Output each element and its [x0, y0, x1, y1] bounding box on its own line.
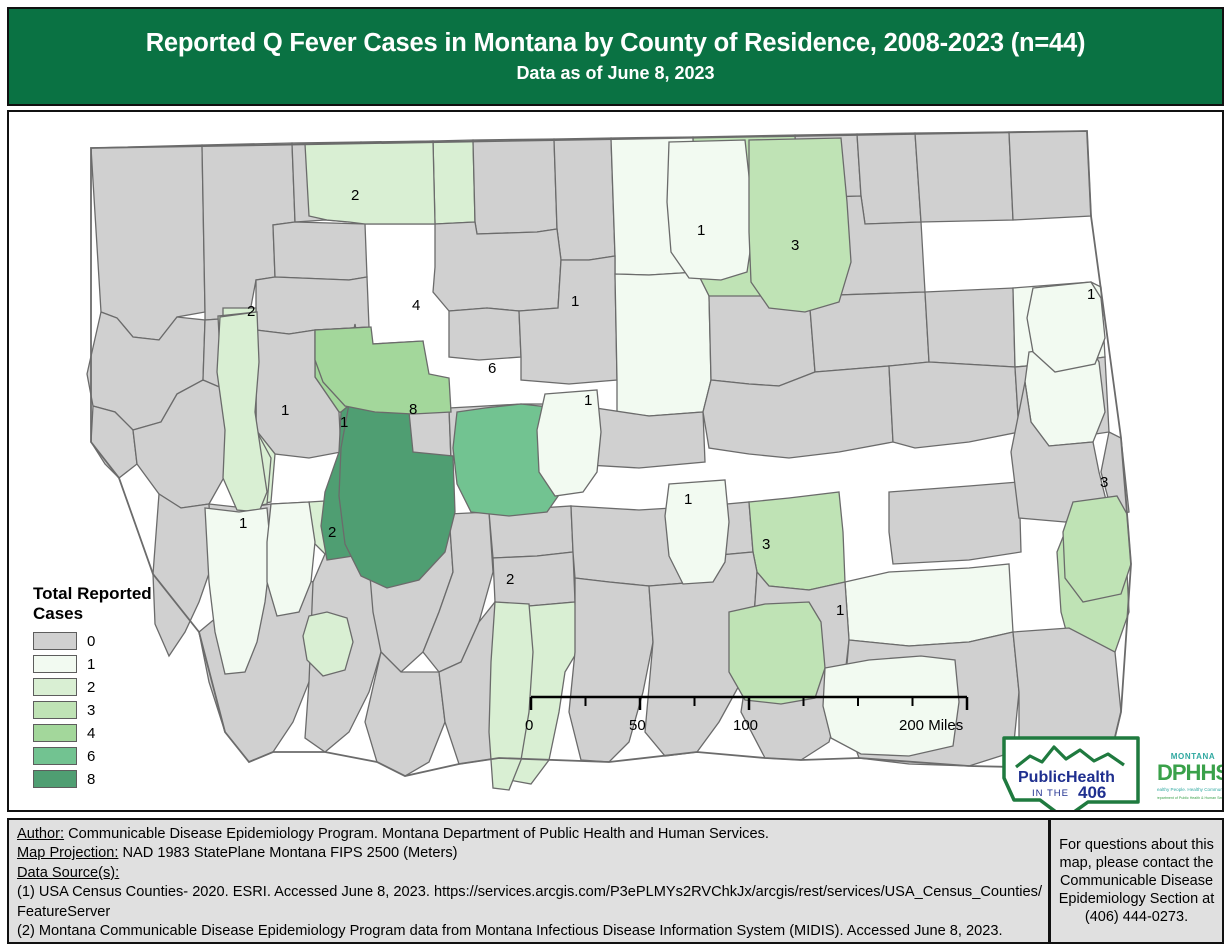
legend-label: 3 — [87, 703, 95, 718]
legend-title-line2: Cases — [33, 604, 183, 624]
footer-datasource-label: Data Source(s): — [17, 865, 119, 881]
county-case-count: 2 — [351, 187, 359, 204]
legend-title-line1: Total Reported — [33, 584, 183, 604]
county-case-count: 8 — [409, 401, 417, 418]
county-case-count: 1 — [684, 491, 692, 508]
scale-bar-graphic — [529, 695, 969, 711]
svg-text:406: 406 — [1078, 783, 1106, 802]
legend-label: 2 — [87, 680, 95, 695]
county-case-count: 4 — [412, 297, 420, 314]
footer-projection-label: Map Projection: — [17, 845, 118, 861]
footer-author-label: Author: — [17, 826, 64, 842]
county-case-count: 3 — [791, 237, 799, 254]
legend: Total Reported Cases 0123468 — [33, 584, 223, 792]
legend-swatch — [33, 724, 77, 742]
svg-text:IN THE: IN THE — [1032, 788, 1069, 799]
county-case-count: 1 — [584, 392, 592, 409]
legend-label: 1 — [87, 657, 95, 672]
footer-author-value: Communicable Disease Epidemiology Progra… — [64, 826, 769, 842]
svg-text:Healthy People. Healthy Commun: Healthy People. Healthy Communities. — [1157, 787, 1224, 792]
legend-item[interactable]: 0 — [33, 631, 223, 651]
public-health-406-logo: Public Health IN THE 406 — [996, 734, 1146, 812]
legend-item[interactable]: 4 — [33, 723, 223, 743]
footer-author-line: Author: Communicable Disease Epidemiolog… — [17, 825, 1042, 844]
footer-datasource-line: Data Source(s): — [17, 864, 1042, 883]
legend-item[interactable]: 3 — [33, 700, 223, 720]
page-header: Reported Q Fever Cases in Montana by Cou… — [7, 7, 1224, 106]
legend-swatch — [33, 701, 77, 719]
footer-metadata: Author: Communicable Disease Epidemiolog… — [7, 818, 1050, 944]
county-case-count: 6 — [488, 360, 496, 377]
legend-label: 6 — [87, 749, 95, 764]
legend-label: 8 — [87, 772, 95, 787]
county-case-count: 2 — [247, 303, 255, 320]
county-case-count: 2 — [328, 524, 336, 541]
svg-text:Department of Public Health &: Department of Public Health & Human Serv… — [1157, 796, 1224, 800]
county-case-count: 3 — [762, 536, 770, 553]
page-subtitle: Data as of June 8, 2023 — [516, 63, 714, 84]
legend-swatch — [33, 632, 77, 650]
scale-tick-200: 200 Miles — [899, 717, 963, 734]
scale-tick-0: 0 — [525, 717, 533, 734]
footer-source-2: (2) Montana Communicable Disease Epidemi… — [17, 922, 1042, 941]
map-canvas[interactable]: .cty{stroke:#6b6b6b;stroke-width:1.3;} .… — [7, 110, 1224, 812]
page-title: Reported Q Fever Cases in Montana by Cou… — [146, 29, 1086, 57]
county-case-count: 1 — [281, 402, 289, 419]
legend-label: 0 — [87, 634, 95, 649]
county-case-count: 1 — [1087, 286, 1095, 303]
scale-tick-50: 50 — [629, 717, 646, 734]
scale-bar: 0 50 100 200 Miles — [529, 695, 969, 737]
scale-bar-labels: 0 50 100 200 Miles — [529, 717, 969, 737]
legend-item[interactable]: 1 — [33, 654, 223, 674]
legend-label: 4 — [87, 726, 95, 741]
footer-source-1-cont: FeatureServer — [17, 903, 1042, 922]
county-case-count: 1 — [340, 414, 348, 431]
svg-text:Public: Public — [1018, 769, 1066, 786]
legend-swatch — [33, 655, 77, 673]
county-case-count: 1 — [239, 515, 247, 532]
footer-contact: For questions about this map, please con… — [1050, 818, 1224, 944]
legend-item[interactable]: 6 — [33, 746, 223, 766]
footer-source-1: (1) USA Census Counties- 2020. ESRI. Acc… — [17, 883, 1042, 902]
footer-projection-value: NAD 1983 StatePlane Montana FIPS 2500 (M… — [118, 845, 457, 861]
county-case-count: 1 — [836, 602, 844, 619]
legend-title: Total Reported Cases — [33, 584, 183, 624]
scale-tick-100: 100 — [733, 717, 758, 734]
legend-swatch — [33, 678, 77, 696]
county-case-count: 3 — [1100, 474, 1108, 491]
legend-item[interactable]: 8 — [33, 769, 223, 789]
map-page: Reported Q Fever Cases in Montana by Cou… — [0, 0, 1231, 951]
page-footer: Author: Communicable Disease Epidemiolog… — [7, 818, 1224, 944]
county-case-count: 1 — [697, 222, 705, 239]
footer-projection-line: Map Projection: NAD 1983 StatePlane Mont… — [17, 844, 1042, 863]
county-case-count: 1 — [571, 293, 579, 310]
svg-text:DPHHS: DPHHS — [1157, 760, 1224, 785]
county-case-count: 2 — [506, 571, 514, 588]
legend-item[interactable]: 2 — [33, 677, 223, 697]
legend-swatch — [33, 770, 77, 788]
legend-swatch — [33, 747, 77, 765]
dphhs-logo: MONTANA DPHHS Healthy People. Healthy Co… — [1157, 746, 1224, 808]
